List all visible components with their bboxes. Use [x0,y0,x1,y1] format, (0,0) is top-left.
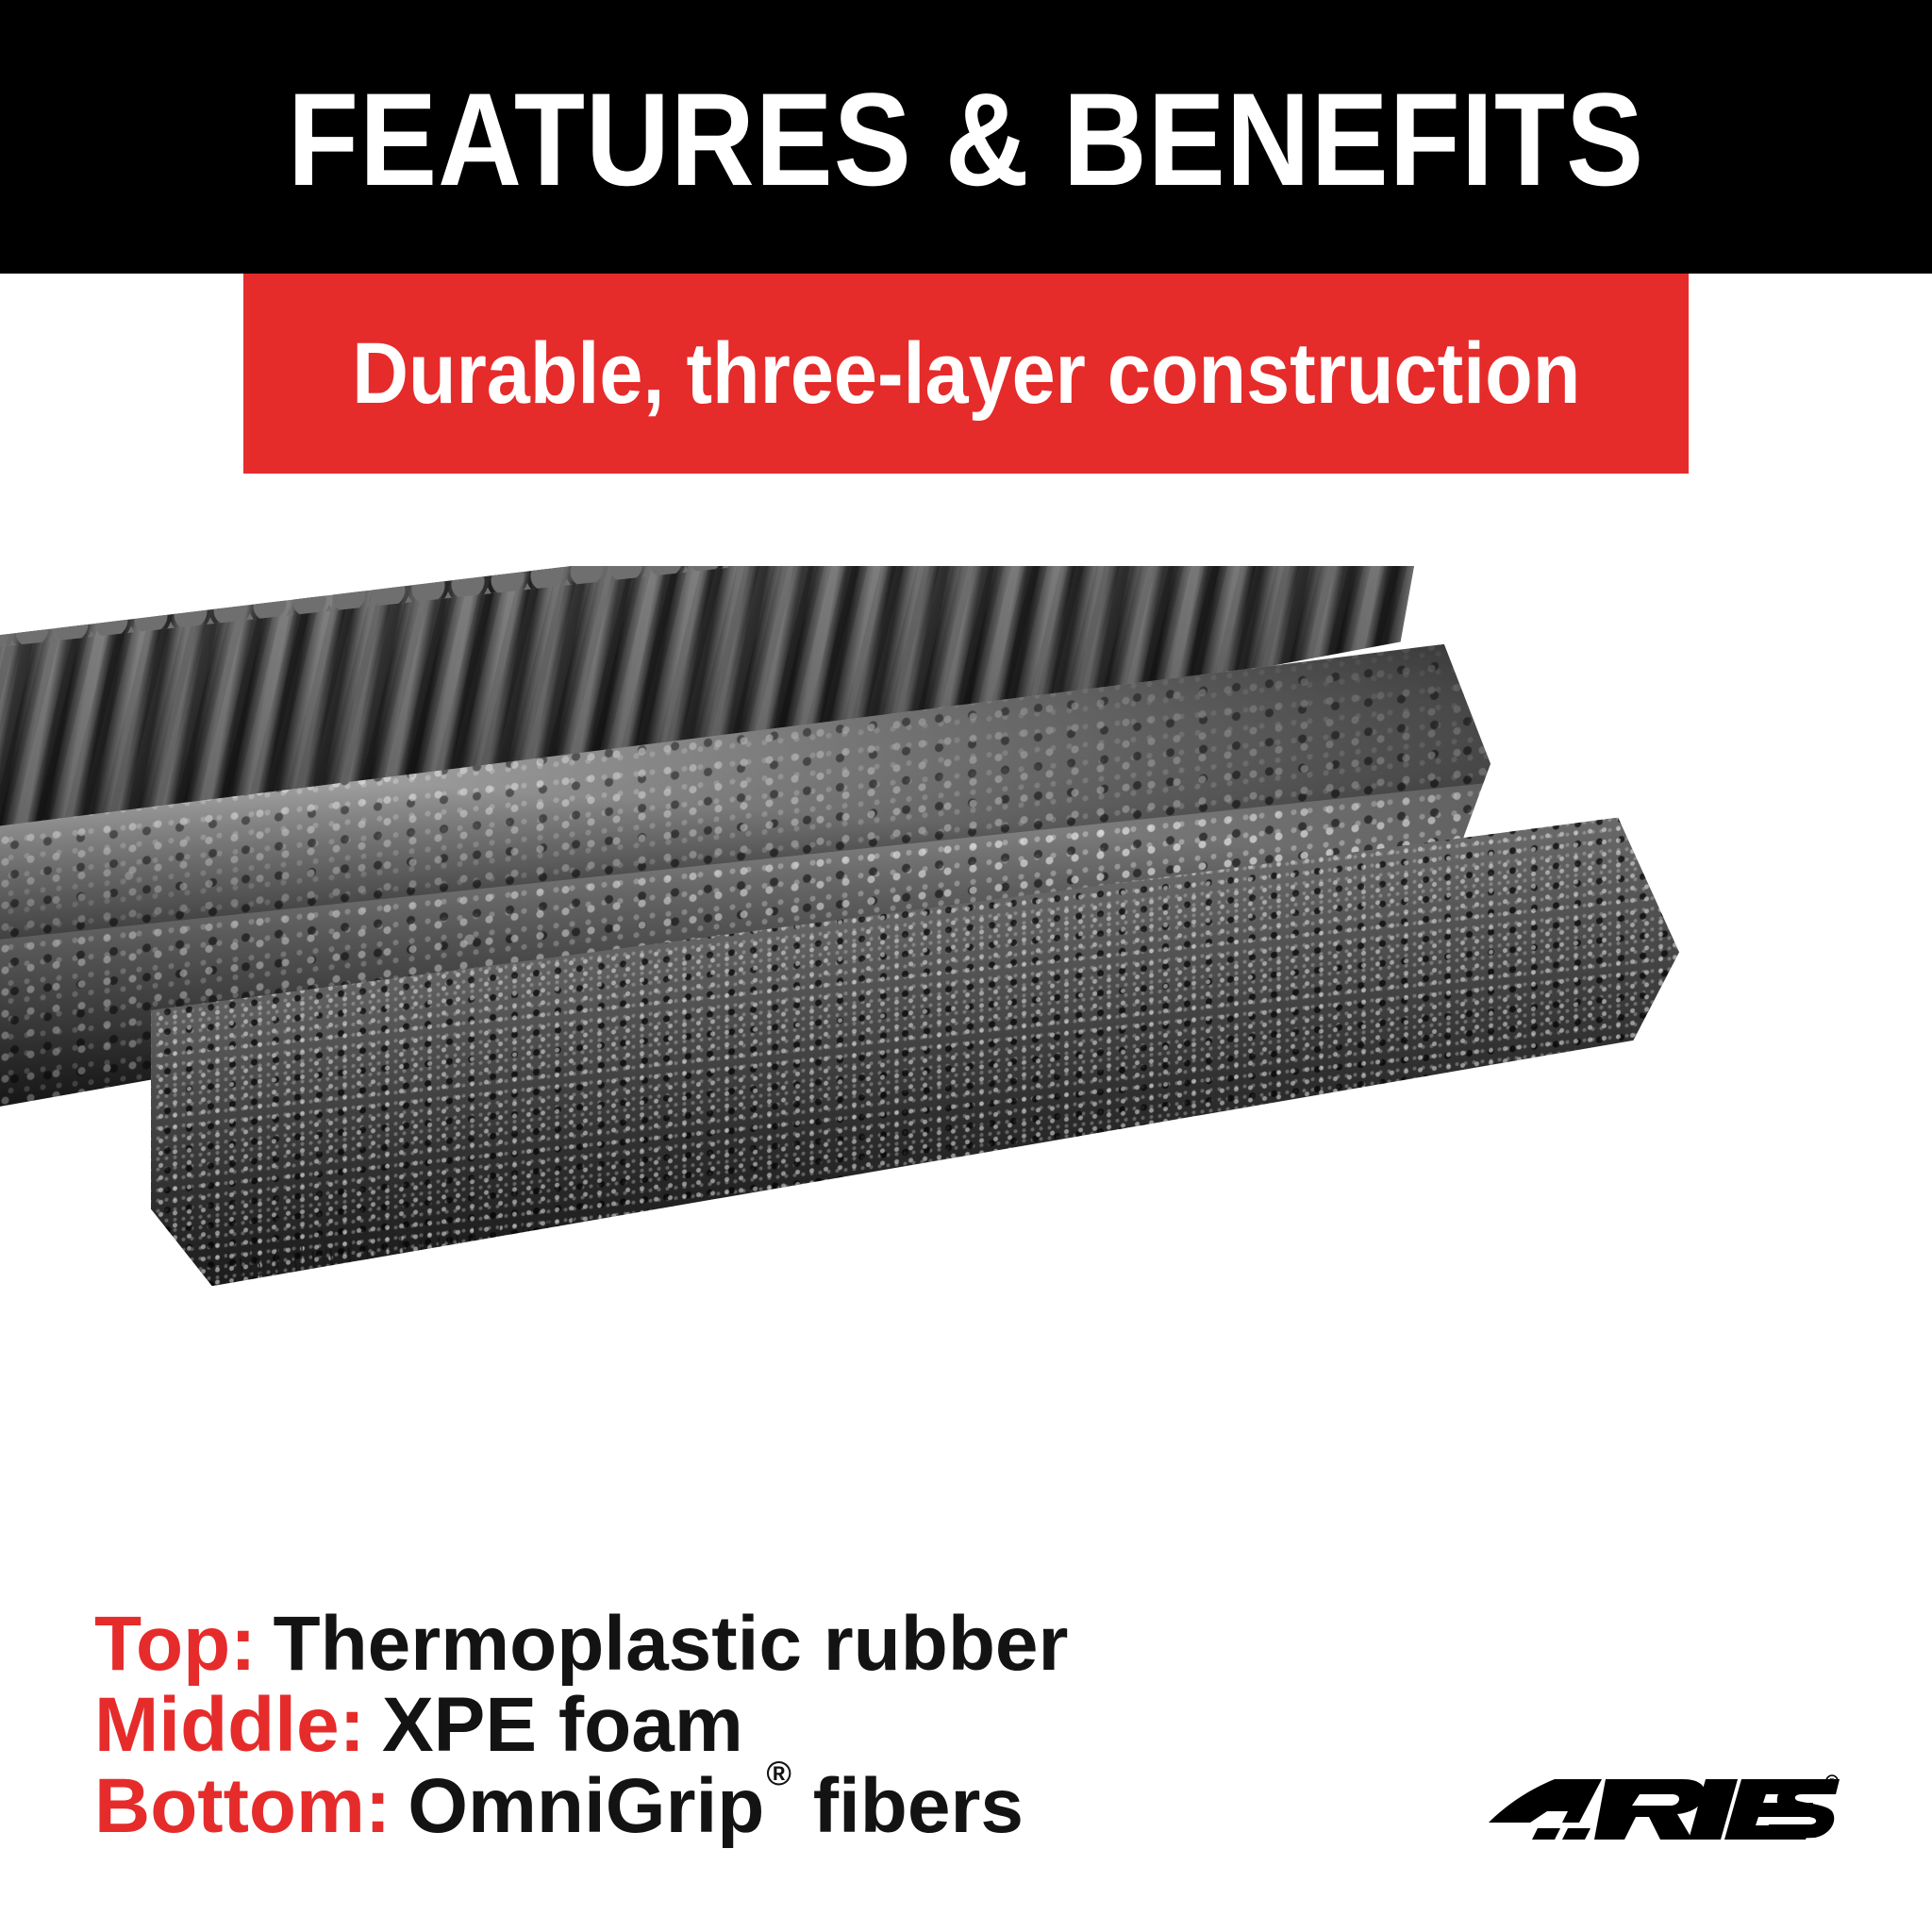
layer-stack [0,566,1932,1509]
layer-legend-value-bottom-suffix: fibers [791,1763,1024,1849]
subtitle-banner: Durable, three-layer construction [243,274,1689,474]
subtitle-text: Durable, three-layer construction [243,274,1544,474]
layer-legend: Top: Thermoplastic rubber Middle: XPE fo… [94,1604,1321,1847]
layer-legend-key-middle: Middle: [94,1685,365,1766]
layer-legend-key-top: Top: [94,1604,257,1685]
aries-logo: R [1481,1774,1840,1858]
layer-legend-value-top: Thermoplastic rubber [274,1604,1069,1685]
header-bar: FEATURES & BENEFITS [0,0,1932,274]
layer-legend-value-bottom: OmniGrip® fibers [408,1766,1024,1847]
page-title: FEATURES & BENEFITS [116,0,1816,274]
layer-legend-value-bottom-brand: OmniGrip [408,1763,764,1849]
layer-legend-value-middle: XPE foam [382,1685,743,1766]
layer-legend-item-bottom: Bottom: OmniGrip® fibers [94,1766,1321,1847]
layer-legend-item-middle: Middle: XPE foam [94,1685,1321,1766]
product-image [0,566,1932,1509]
layer-legend-item-top: Top: Thermoplastic rubber [94,1604,1321,1685]
svg-text:R: R [1829,1777,1835,1786]
layer-legend-key-bottom: Bottom: [94,1766,391,1847]
registered-trademark-icon: ® [766,1754,791,1792]
